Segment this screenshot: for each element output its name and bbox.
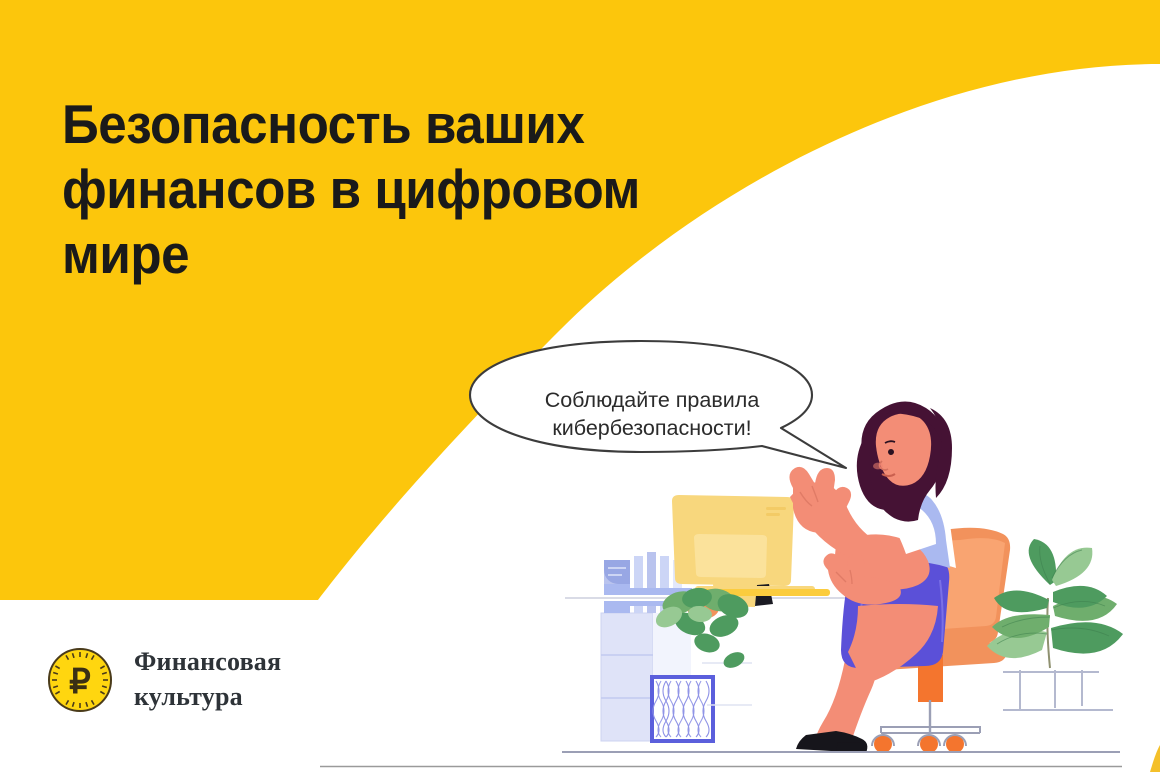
svg-text:₽: ₽ <box>69 664 91 701</box>
ruble-coin-icon: ₽ <box>46 646 114 714</box>
brand-logo-text: Финансовая культура <box>134 645 281 714</box>
brand-logo[interactable]: ₽ Финансовая культура <box>46 645 281 714</box>
waste-basket <box>652 677 713 741</box>
poster-canvas: Безопасность ваших финансов в цифровом м… <box>0 0 1160 772</box>
speech-bubble-text: Соблюдайте правила кибербезопасности! <box>487 386 817 443</box>
chair-wheels <box>872 735 966 753</box>
